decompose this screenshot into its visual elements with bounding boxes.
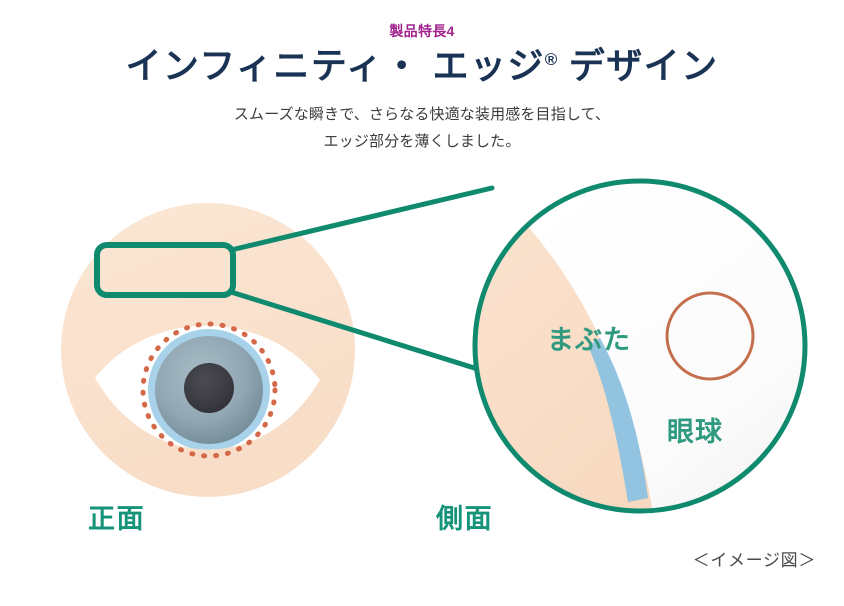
pupil <box>184 363 234 413</box>
subtitle: スムーズな瞬きで、さらなる快適な装用感を目指して、 エッジ部分を薄くしました。 <box>0 86 844 155</box>
front-view-group <box>61 203 355 497</box>
page-title-main: インフィニティ・ エッジ <box>125 45 544 86</box>
side-view-caption: 側面 <box>436 506 493 533</box>
eyebrow-label: 製品特長4 <box>0 0 844 38</box>
header: 製品特長4 インフィニティ・ エッジ® デザイン スムーズな瞬きで、さらなる快適… <box>0 0 844 155</box>
callout-eyeball: 眼球 <box>667 417 723 447</box>
page-title: インフィニティ・ エッジ® デザイン <box>0 38 844 86</box>
registered-trademark-symbol: ® <box>545 50 558 69</box>
eye-diagram: まぶた 眼球 正面 側面 ＜イメージ図＞ <box>0 168 844 606</box>
page-title-tail: デザイン <box>557 45 718 86</box>
front-view-caption: 正面 <box>88 506 145 533</box>
callout-eyelid: まぶた <box>547 325 631 355</box>
side-view-group: まぶた 眼球 <box>300 168 815 568</box>
product-feature-slide: 製品特長4 インフィニティ・ エッジ® デザイン スムーズな瞬きで、さらなる快適… <box>0 0 844 606</box>
subtitle-line-2: エッジ部分を薄くしました。 <box>324 133 521 150</box>
image-disclaimer-note: ＜イメージ図＞ <box>693 546 816 571</box>
subtitle-line-1: スムーズな瞬きで、さらなる快適な装用感を目指して、 <box>234 106 610 123</box>
eye-diagram-svg: まぶた 眼球 <box>0 168 844 606</box>
